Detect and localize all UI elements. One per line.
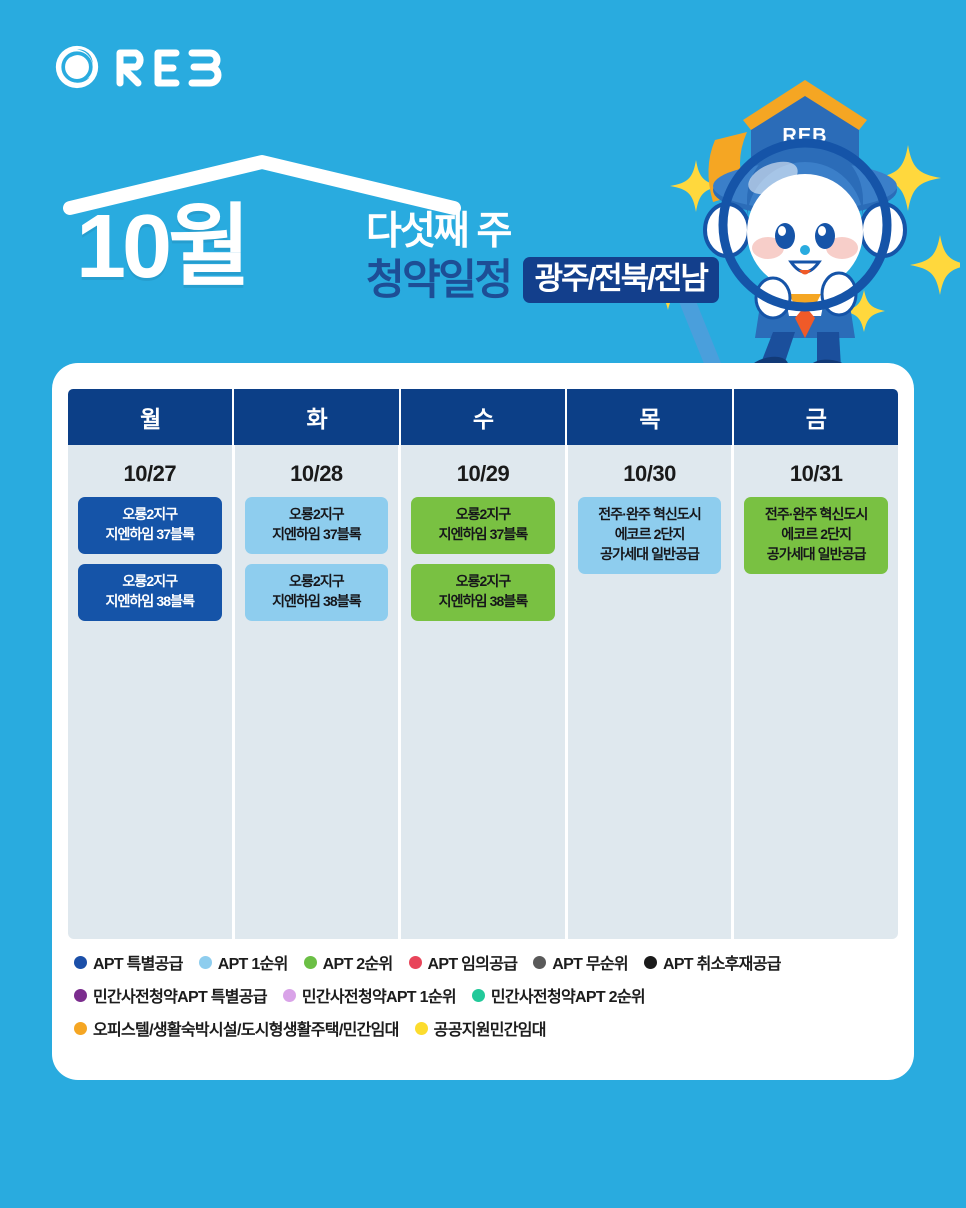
calendar-date-label: 10/29 bbox=[457, 461, 510, 487]
calendar-day-header: 목 bbox=[567, 389, 733, 445]
schedule-event-card[interactable]: 전주·완주 혁신도시 에코르 2단지 공가세대 일반공급 bbox=[744, 497, 888, 574]
calendar-body: 10/27오룡2지구 지엔하임 37블록오룡2지구 지엔하임 38블록10/28… bbox=[68, 445, 898, 939]
title-month: 10월 bbox=[76, 202, 247, 292]
calendar-day-column: 10/28오룡2지구 지엔하임 37블록오룡2지구 지엔하임 38블록 bbox=[235, 445, 402, 939]
legend-color-dot-icon bbox=[74, 989, 87, 1002]
legend-item: 공공지원민간임대 bbox=[415, 1016, 546, 1040]
reb-wordmark-icon bbox=[114, 47, 234, 87]
legend-label: 민간사전청약APT 2순위 bbox=[491, 983, 645, 1007]
legend-item: APT 1순위 bbox=[199, 950, 288, 974]
region-badge: 광주/전북/전남 bbox=[523, 257, 719, 304]
legend-row: 민간사전청약APT 특별공급민간사전청약APT 1순위민간사전청약APT 2순위 bbox=[74, 983, 894, 1007]
legend-item: 민간사전청약APT 1순위 bbox=[283, 983, 456, 1007]
legend-item: APT 취소후재공급 bbox=[644, 950, 781, 974]
legend-label: 오피스텔/생활숙박시설/도시형생활주택/민간임대 bbox=[93, 1016, 399, 1040]
legend-color-dot-icon bbox=[472, 989, 485, 1002]
reb-logo bbox=[54, 44, 234, 90]
calendar-day-header: 화 bbox=[234, 389, 400, 445]
calendar-day-header: 금 bbox=[734, 389, 898, 445]
calendar-date-label: 10/31 bbox=[790, 461, 843, 487]
legend-color-dot-icon bbox=[644, 956, 657, 969]
legend-item: APT 무순위 bbox=[533, 950, 628, 974]
legend-item: 민간사전청약APT 2순위 bbox=[472, 983, 645, 1007]
schedule-event-card[interactable]: 오룡2지구 지엔하임 37블록 bbox=[411, 497, 555, 554]
legend-row: APT 특별공급APT 1순위APT 2순위APT 임의공급APT 무순위APT… bbox=[74, 950, 894, 974]
calendar-day-header: 월 bbox=[68, 389, 234, 445]
calendar-day-header: 수 bbox=[401, 389, 567, 445]
legend-item: APT 2순위 bbox=[304, 950, 393, 974]
legend-color-dot-icon bbox=[409, 956, 422, 969]
schedule-event-card[interactable]: 오룡2지구 지엔하임 37블록 bbox=[245, 497, 389, 554]
legend-label: 민간사전청약APT 1순위 bbox=[302, 983, 456, 1007]
schedule-event-card[interactable]: 오룡2지구 지엔하임 37블록 bbox=[78, 497, 222, 554]
legend-color-dot-icon bbox=[74, 1022, 87, 1035]
schedule-event-card[interactable]: 오룡2지구 지엔하임 38블록 bbox=[78, 564, 222, 621]
legend-item: APT 임의공급 bbox=[409, 950, 518, 974]
legend-color-dot-icon bbox=[199, 956, 212, 969]
legend-label: APT 임의공급 bbox=[428, 950, 518, 974]
calendar-day-column: 10/30전주·완주 혁신도시 에코르 2단지 공가세대 일반공급 bbox=[568, 445, 735, 939]
legend-label: APT 1순위 bbox=[218, 950, 288, 974]
legend-label: APT 2순위 bbox=[323, 950, 393, 974]
calendar-date-label: 10/30 bbox=[623, 461, 676, 487]
schedule-event-card[interactable]: 오룡2지구 지엔하임 38블록 bbox=[411, 564, 555, 621]
legend-color-dot-icon bbox=[74, 956, 87, 969]
schedule-event-card[interactable]: 전주·완주 혁신도시 에코르 2단지 공가세대 일반공급 bbox=[578, 497, 722, 574]
schedule-card: 월 화 수 목 금 10/27오룡2지구 지엔하임 37블록오룡2지구 지엔하임… bbox=[52, 363, 914, 1080]
reb-aperture-logo-icon bbox=[54, 44, 100, 90]
calendar-day-column: 10/29오룡2지구 지엔하임 37블록오룡2지구 지엔하임 38블록 bbox=[401, 445, 568, 939]
calendar-date-label: 10/28 bbox=[290, 461, 343, 487]
legend-item: APT 특별공급 bbox=[74, 950, 183, 974]
page-title: 10월 다섯째 주 청약일정 광주/전북/전남 bbox=[76, 200, 776, 345]
legend-color-dot-icon bbox=[304, 956, 317, 969]
legend-row: 오피스텔/생활숙박시설/도시형생활주택/민간임대공공지원민간임대 bbox=[74, 1016, 894, 1040]
title-week: 다섯째 주 bbox=[366, 212, 786, 253]
legend-color-dot-icon bbox=[533, 956, 546, 969]
calendar: 월 화 수 목 금 10/27오룡2지구 지엔하임 37블록오룡2지구 지엔하임… bbox=[68, 389, 898, 939]
legend-label: 민간사전청약APT 특별공급 bbox=[93, 983, 267, 1007]
legend-label: APT 특별공급 bbox=[93, 950, 183, 974]
legend-label: APT 무순위 bbox=[552, 950, 628, 974]
calendar-header-row: 월 화 수 목 금 bbox=[68, 389, 898, 445]
legend-color-dot-icon bbox=[283, 989, 296, 1002]
calendar-date-label: 10/27 bbox=[124, 461, 177, 487]
legend-color-dot-icon bbox=[415, 1022, 428, 1035]
legend: APT 특별공급APT 1순위APT 2순위APT 임의공급APT 무순위APT… bbox=[74, 950, 894, 1049]
calendar-day-column: 10/27오룡2지구 지엔하임 37블록오룡2지구 지엔하임 38블록 bbox=[68, 445, 235, 939]
calendar-day-column: 10/31전주·완주 혁신도시 에코르 2단지 공가세대 일반공급 bbox=[734, 445, 898, 939]
title-subtitle: 청약일정 bbox=[366, 258, 511, 302]
legend-label: APT 취소후재공급 bbox=[663, 950, 781, 974]
legend-item: 민간사전청약APT 특별공급 bbox=[74, 983, 267, 1007]
legend-label: 공공지원민간임대 bbox=[434, 1016, 546, 1040]
legend-item: 오피스텔/생활숙박시설/도시형생활주택/민간임대 bbox=[74, 1016, 399, 1040]
schedule-event-card[interactable]: 오룡2지구 지엔하임 38블록 bbox=[245, 564, 389, 621]
